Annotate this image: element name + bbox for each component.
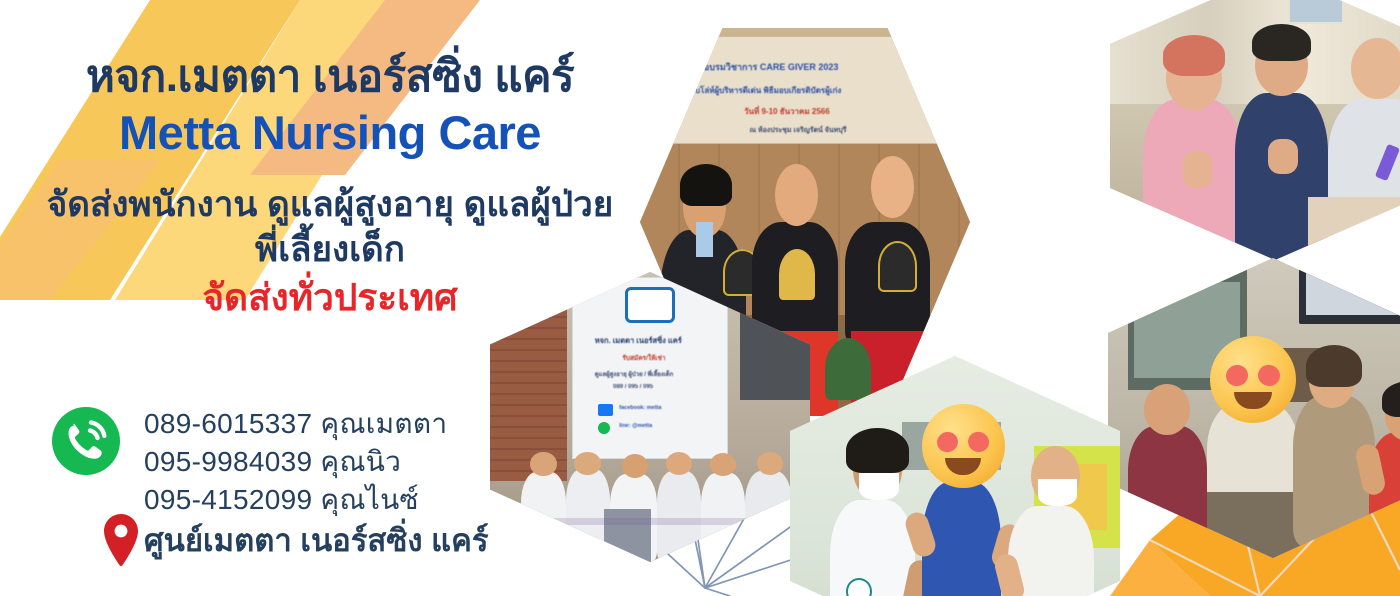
phone-row-3[interactable]: 095-4152099 คุณไนซ์ — [144, 481, 612, 519]
company-name-english: Metta Nursing Care — [0, 105, 660, 161]
nationwide-highlight: จัดส่งทั่วประเทศ — [0, 276, 660, 320]
company-name-thai: หจก.เมตตา เนอร์สซิ่ง แคร์ — [0, 52, 660, 103]
headline-block: หจก.เมตตา เนอร์สซิ่ง แคร์ Metta Nursing … — [0, 52, 660, 320]
contact-rows: 089-6015337 คุณเมตตา 095-9984039 คุณนิว … — [52, 405, 612, 563]
smiling-face-emoji-1 — [1210, 336, 1296, 423]
services-line-1: จัดส่งพนักงาน ดูแลผู้สูงอายุ ดูแลผู้ป่วย — [0, 183, 660, 228]
address-row: ศูนย์เมตตา เนอร์สซิ่ง แคร์ — [144, 519, 612, 563]
services-line-2: พี่เลี้ยงเด็ก — [0, 228, 660, 273]
photo-staff-thumbsup — [1110, 0, 1400, 260]
phone-row-2[interactable]: 095-9984039 คุณนิว — [144, 443, 612, 481]
event-banner-sign: การอบรมวิชาการ CARE GIVER 2023 พิธีมอบโล… — [666, 36, 943, 145]
photo-home-care — [1108, 258, 1400, 558]
phone-row-1[interactable]: 089-6015337 คุณเมตตา — [144, 405, 612, 443]
hexagon-photo-staff-thumbsup — [1110, 0, 1400, 260]
contact-block: 089-6015337 คุณเมตตา 095-9984039 คุณนิว … — [52, 405, 612, 563]
smiling-face-emoji-2 — [922, 404, 1005, 488]
services-text: จัดส่งพนักงาน ดูแลผู้สูงอายุ ดูแลผู้ป่วย… — [0, 183, 660, 320]
hexagon-photo-home-care — [1108, 258, 1400, 558]
promotional-banner: หจก.เมตตา เนอร์สซิ่ง แคร์ Metta Nursing … — [0, 0, 1400, 596]
photo-collage: การอบรมวิชาการ CARE GIVER 2023 พิธีมอบโล… — [620, 0, 1400, 596]
